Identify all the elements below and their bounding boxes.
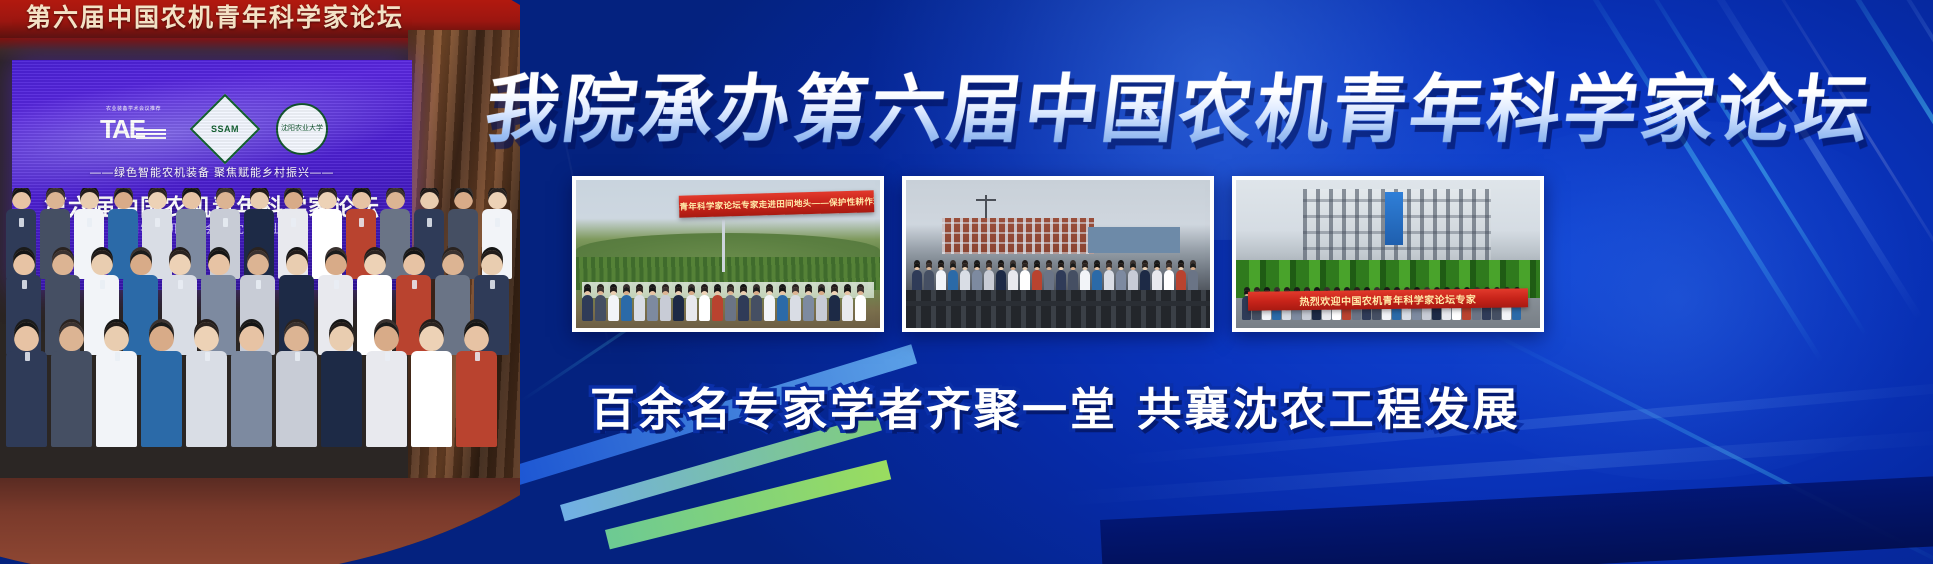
attendee-body <box>764 295 775 321</box>
streak-7 <box>1488 330 1933 564</box>
attendee <box>855 287 866 321</box>
attendee <box>96 322 137 447</box>
attendee <box>186 322 227 447</box>
attendee-head <box>114 188 133 209</box>
attendee-head <box>584 287 591 295</box>
attendee-head <box>148 188 167 209</box>
attendee <box>582 287 593 321</box>
attendee-body <box>647 295 658 321</box>
attendee-head <box>792 287 799 295</box>
attendee-head <box>805 287 812 295</box>
attendee-head <box>766 287 773 295</box>
banner-tagline: 百余名专家学者齐聚一堂 共襄沈农工程发展 <box>590 373 1850 435</box>
attendee-head <box>403 250 425 275</box>
attendee <box>321 322 362 447</box>
attendee-head <box>623 287 630 295</box>
attendee-badge <box>87 218 92 227</box>
attendee-head <box>352 188 371 209</box>
attendee-head <box>464 322 489 351</box>
photo-field-visit: 中国农机青年科学家论坛专家走进田间地头——保护性耕作现场参观 <box>576 180 880 328</box>
page-title: 我院承办第六届中国农机青年科学家论坛 <box>481 50 1893 150</box>
attendee-head <box>688 287 695 295</box>
attendee-head <box>247 250 269 275</box>
tae-logo: 农业装备学术会议推荐 TAE <box>96 107 174 151</box>
tae-logo-subtext: 农业装备学术会议推荐 <box>106 105 161 112</box>
attendee <box>829 287 840 321</box>
attendee <box>6 322 47 447</box>
attendee-badge <box>490 280 495 289</box>
attendee-head <box>104 322 129 351</box>
attendee-head <box>286 250 308 275</box>
ribbon-green <box>605 460 891 550</box>
attendee-head <box>998 263 1004 270</box>
attendee-body <box>803 295 814 321</box>
attendee-body <box>725 295 736 321</box>
attendee-head <box>329 322 354 351</box>
attendee-body <box>96 351 137 447</box>
ssam-logo: SSAM <box>190 94 261 165</box>
attendee <box>366 322 407 447</box>
attendee-body <box>411 351 452 447</box>
attendee-body <box>790 295 801 321</box>
attendee-head <box>182 188 201 209</box>
factory-building <box>942 218 1094 254</box>
attendee-head <box>374 322 399 351</box>
attendee-body <box>456 351 497 447</box>
photo1-people-row <box>576 287 880 321</box>
attendee-badge <box>205 352 210 361</box>
attendee <box>816 287 827 321</box>
attendee-badge <box>100 280 105 289</box>
attendee-head <box>250 188 269 209</box>
attendee <box>686 287 697 321</box>
photo-card-factory-visit[interactable] <box>902 176 1214 332</box>
company-blue-banner <box>1385 192 1403 245</box>
attendee-head <box>13 250 35 275</box>
university-seal-text: 沈阳农业大学 <box>281 125 323 133</box>
streak-3 <box>1694 0 1923 320</box>
university-seal-icon: 沈阳农业大学 <box>276 103 328 155</box>
attendee-body <box>51 351 92 447</box>
photo-card-field-visit[interactable]: 中国农机青年科学家论坛专家走进田间地头——保护性耕作现场参观 <box>572 176 884 332</box>
led-subtitle: ——绿色智能农机装备 聚焦赋能乡村振兴—— <box>12 164 412 180</box>
attendee-body <box>6 351 47 447</box>
attendee <box>751 287 762 321</box>
attendee-head <box>818 287 825 295</box>
attendee-body <box>751 295 762 321</box>
attendee-badge <box>223 218 228 227</box>
attendee-head <box>442 250 464 275</box>
attendee-body <box>634 295 645 321</box>
group-photo-forum: 第六届中国农机青年科学家论坛 农业装备学术会议推荐 TAE SSAM 沈阳农业大… <box>0 0 520 564</box>
attendee-body <box>842 295 853 321</box>
attendee-head <box>740 287 747 295</box>
attendee-head <box>481 250 503 275</box>
attendee-head <box>1142 263 1148 270</box>
attendee-head <box>325 250 347 275</box>
attendee-body <box>777 295 788 321</box>
tae-logo-maintext: TAE <box>100 114 144 145</box>
tae-logo-lines <box>136 129 166 139</box>
attendee-head <box>284 322 309 351</box>
attendee <box>764 287 775 321</box>
attendee-badge <box>291 218 296 227</box>
attendee-head <box>91 250 113 275</box>
attendee-head <box>701 287 708 295</box>
attendee-body <box>712 295 723 321</box>
attendee-body <box>321 351 362 447</box>
attendee <box>647 287 658 321</box>
attendee-badge <box>495 218 500 227</box>
attendee-head <box>208 250 230 275</box>
attendee-head <box>844 287 851 295</box>
attendee <box>621 287 632 321</box>
attendee-body <box>276 351 317 447</box>
attendee-head <box>1166 263 1172 270</box>
attendee-head <box>610 287 617 295</box>
attendee-head <box>239 322 264 351</box>
attendee-head <box>59 322 84 351</box>
attendee <box>276 322 317 447</box>
attendee-head <box>1094 263 1100 270</box>
attendee-head <box>364 250 386 275</box>
attendee-head <box>1070 263 1076 270</box>
attendee-head <box>974 263 980 270</box>
group-photo-inner: 第六届中国农机青年科学家论坛 农业装备学术会议推荐 TAE SSAM 沈阳农业大… <box>0 0 520 564</box>
attendee <box>595 287 606 321</box>
attendee-head <box>727 287 734 295</box>
machinery-frame <box>906 290 1210 328</box>
attendee-head <box>1082 263 1088 270</box>
streak-6 <box>1877 0 1933 232</box>
attendee-head <box>488 188 507 209</box>
attendee-head <box>284 188 303 209</box>
attendee-body <box>186 351 227 447</box>
attendee-head <box>1130 263 1136 270</box>
attendee-badge <box>115 352 120 361</box>
attendee-head <box>14 322 39 351</box>
photo3-caption-banner: 热烈欢迎中国农机青年科学家论坛专家 <box>1248 288 1528 311</box>
attendee-head <box>938 263 944 270</box>
attendee-head <box>831 287 838 295</box>
attendee-body <box>699 295 710 321</box>
attendee-head <box>1154 263 1160 270</box>
attendee-body <box>231 351 272 447</box>
photo-card-company-visit-a[interactable]: 热烈欢迎中国农机青年科学家论坛专家 <box>1232 176 1544 332</box>
attendee-badge <box>427 218 432 227</box>
swash-bottom-right <box>1100 473 1933 564</box>
attendee-badge <box>256 280 261 289</box>
attendee-body <box>738 295 749 321</box>
attendee-badge <box>475 352 480 361</box>
attendee-head <box>12 188 31 209</box>
attendee <box>660 287 671 321</box>
attendee-head <box>1178 263 1184 270</box>
attendee <box>51 322 92 447</box>
attendee-body <box>595 295 606 321</box>
attendee <box>673 287 684 321</box>
attendee-head <box>1046 263 1052 270</box>
attendee-head <box>753 287 760 295</box>
attendee-body <box>829 295 840 321</box>
attendee <box>456 322 497 447</box>
attendee-head <box>46 188 65 209</box>
attendee <box>608 287 619 321</box>
attendee-badge <box>19 218 24 227</box>
news-banner-image: 第六届中国农机青年科学家论坛 农业装备学术会议推荐 TAE SSAM 沈阳农业大… <box>0 0 1933 564</box>
attendee-head <box>714 287 721 295</box>
attendee-head <box>986 263 992 270</box>
attendee <box>842 287 853 321</box>
attendee <box>738 287 749 321</box>
attendee-head <box>950 263 956 270</box>
attendee-head <box>962 263 968 270</box>
attendee-head <box>1118 263 1124 270</box>
attendee-badge <box>295 352 300 361</box>
attendee-head <box>1058 263 1064 270</box>
led-logo-row: 农业装备学术会议推荐 TAE SSAM 沈阳农业大学 <box>12 98 412 160</box>
venue-floor <box>0 478 520 564</box>
attendee-head <box>194 322 219 351</box>
attendee-head <box>1190 263 1196 270</box>
attendee <box>141 322 182 447</box>
attendee-head <box>779 287 786 295</box>
attendee-body <box>855 295 866 321</box>
ceiling-banner-text: 第六届中国农机青年科学家论坛 <box>0 0 430 36</box>
attendee <box>803 287 814 321</box>
attendee-head <box>1034 263 1040 270</box>
photo-company-visit: 热烈欢迎中国农机青年科学家论坛专家 <box>1236 180 1540 328</box>
attendee <box>725 287 736 321</box>
attendee-body <box>366 351 407 447</box>
attendee-head <box>1022 263 1028 270</box>
streak-9 <box>1060 429 1933 506</box>
attendee-head <box>419 322 444 351</box>
attendee-body <box>582 295 593 321</box>
attendee-badge <box>412 280 417 289</box>
attendee-badge <box>334 280 339 289</box>
attendee-body <box>816 295 827 321</box>
attendee-head <box>649 287 656 295</box>
attendee-badge <box>359 218 364 227</box>
attendee-body <box>660 295 671 321</box>
attendee-head <box>420 188 439 209</box>
attendee <box>790 287 801 321</box>
attendees-crowd <box>0 188 520 564</box>
crowd-row-front <box>0 322 520 447</box>
attendee-badge <box>385 352 390 361</box>
attendee-head <box>636 287 643 295</box>
attendee <box>231 322 272 447</box>
attendee-head <box>169 250 191 275</box>
ssam-logo-text: SSAM <box>211 124 239 134</box>
attendee <box>699 287 710 321</box>
photo1-caption-banner: 中国农机青年科学家论坛专家走进田间地头——保护性耕作现场参观 <box>679 191 874 219</box>
attendee-body <box>673 295 684 321</box>
attendee-head <box>52 250 74 275</box>
attendee-head <box>675 287 682 295</box>
attendee-head <box>1106 263 1112 270</box>
attendee-head <box>914 263 920 270</box>
attendee <box>411 322 452 447</box>
attendee-body <box>686 295 697 321</box>
attendee-body <box>141 351 182 447</box>
attendee-head <box>149 322 174 351</box>
attendee-body <box>608 295 619 321</box>
attendee-badge <box>155 218 160 227</box>
attendee-head <box>662 287 669 295</box>
attendee-head <box>597 287 604 295</box>
attendee-head <box>1010 263 1016 270</box>
warehouse-shed <box>1088 227 1179 252</box>
attendee-head <box>386 188 405 209</box>
attendee <box>712 287 723 321</box>
photo-factory-visit <box>906 180 1210 328</box>
attendee-badge <box>178 280 183 289</box>
attendee-head <box>926 263 932 270</box>
attendee-head <box>130 250 152 275</box>
attendee <box>634 287 645 321</box>
attendee-badge <box>25 352 30 361</box>
attendee-head <box>857 287 864 295</box>
attendee-head <box>80 188 99 209</box>
attendee-badge <box>22 280 27 289</box>
attendee-body <box>621 295 632 321</box>
attendee-head <box>318 188 337 209</box>
attendee-head <box>454 188 473 209</box>
attendee-head <box>216 188 235 209</box>
attendee <box>777 287 788 321</box>
